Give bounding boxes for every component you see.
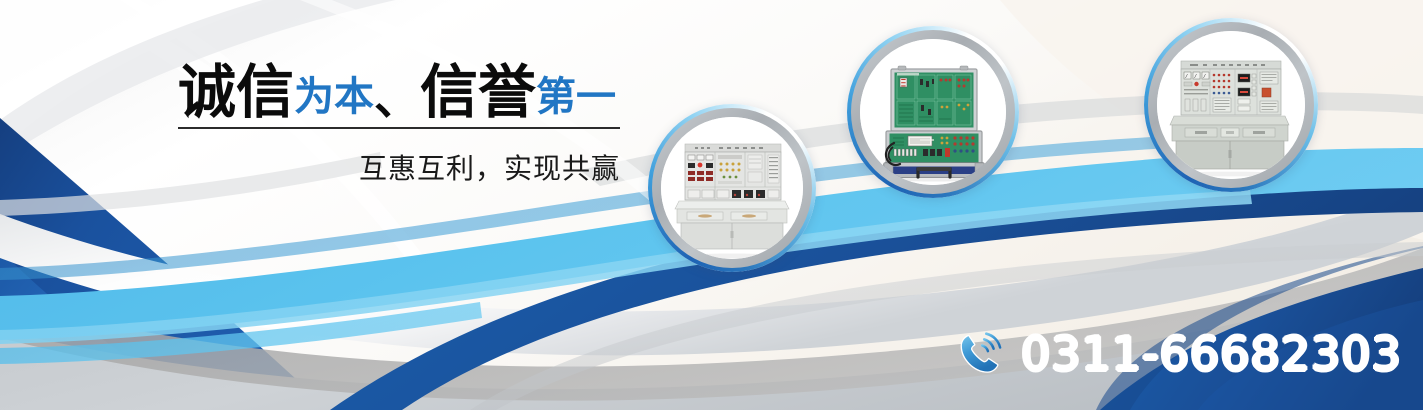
electrical-training-workbench-icon: [661, 117, 803, 259]
headline-part-2: 为本: [294, 75, 374, 119]
portable-electronics-training-case-icon: [860, 39, 1006, 185]
subtitle: 互惠互利，实现共赢: [178, 129, 620, 187]
headline-part-4: 第一: [536, 75, 616, 119]
product-circle-1[interactable]: [648, 104, 816, 272]
headline-part-1: 诚信: [178, 60, 294, 125]
promotional-banner: 诚信为本、信誉第一 互惠互利，实现共赢: [0, 0, 1423, 410]
page-title: 诚信为本、信誉第一: [178, 62, 648, 123]
product-circle-3[interactable]: [1144, 18, 1318, 192]
headline-part-3: 信誉: [420, 60, 536, 125]
contact-phone-block[interactable]: 0311-66682303: [955, 327, 1402, 381]
product-circle-2[interactable]: [847, 26, 1019, 198]
motor-control-training-bench-icon: [1157, 31, 1305, 179]
headline-punctuation: 、: [374, 72, 420, 124]
phone-number: 0311-66682303: [1021, 327, 1402, 381]
headline-block: 诚信为本、信誉第一 互惠互利，实现共赢: [178, 62, 648, 187]
phone-call-icon: [955, 328, 1007, 380]
